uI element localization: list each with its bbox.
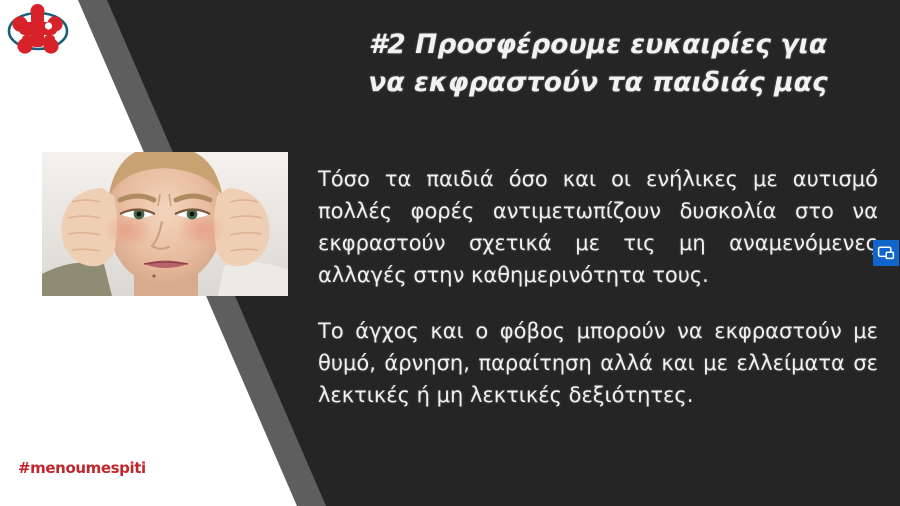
- slide-paragraph-1: Τόσο τα παιδιά όσο και οι ενήλικες με αυ…: [318, 163, 878, 292]
- presentation-slide: #2 Προσφέρουμε ευκαιρίες για να εκφραστο…: [0, 0, 900, 506]
- child-covering-ears-photo: [42, 152, 288, 296]
- slide-paragraph-2: Το άγχος και ο φόβος μπορούν να εκφραστο…: [318, 315, 878, 411]
- screen-share-icon[interactable]: [873, 240, 899, 266]
- campaign-hashtag: #menoumespiti: [18, 459, 146, 477]
- slide-title: #2 Προσφέρουμε ευκαιρίες για να εκφραστο…: [318, 26, 878, 101]
- organization-logo: [6, 2, 70, 60]
